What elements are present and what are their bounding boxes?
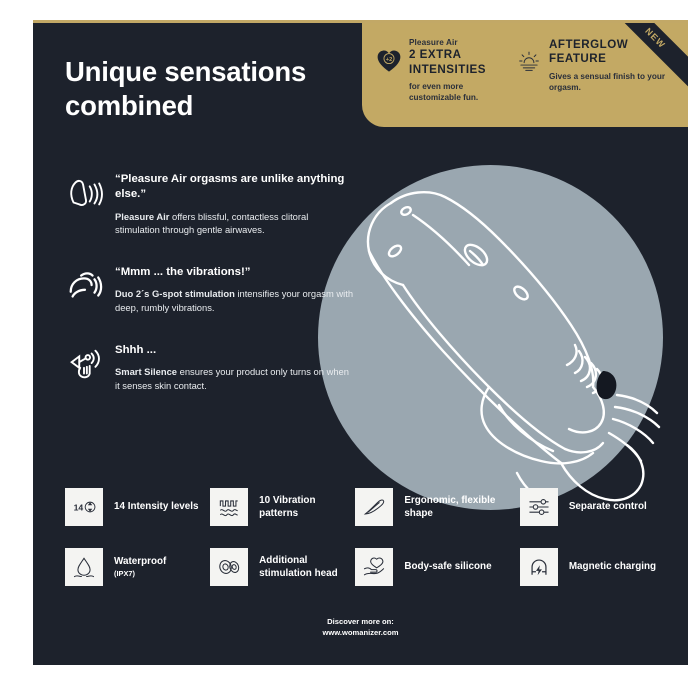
vibration-motion-icon	[65, 267, 103, 305]
additional-head-icon	[216, 554, 242, 580]
spec-label-text: Magnetic charging	[569, 561, 656, 572]
footer-line-1: Discover more on:	[33, 616, 688, 627]
spec-item-magnetic-charging: Magnetic charging	[520, 548, 665, 586]
spec-label: Waterproof(IPX7)	[114, 555, 166, 579]
spec-label-text: Additional stimulation head	[259, 555, 337, 579]
feature-description: Pleasure Air offers blissful, contactles…	[115, 210, 355, 237]
feature-item-smart-silence: Shhh ... Smart Silence ensures your prod…	[65, 341, 355, 393]
spec-label: Ergonomic, flexible shape	[404, 494, 520, 520]
svg-text:+2: +2	[386, 57, 392, 63]
spec-label-text: 10 Vibration patterns	[259, 495, 315, 519]
ergonomic-shape-icon	[361, 494, 387, 520]
feature-quote: “Pleasure Air orgasms are unlike anythin…	[115, 172, 355, 203]
specification-grid: 14 14 Intensity levels	[65, 488, 665, 608]
magnetic-charging-icon	[526, 554, 552, 580]
spec-label: Separate control	[569, 500, 647, 513]
vibration-patterns-icon	[216, 494, 242, 520]
spec-icon-box	[210, 548, 248, 586]
svg-text:14: 14	[74, 502, 84, 512]
page-title: Unique sensations combined	[65, 55, 365, 122]
spec-item-waterproof: Waterproof(IPX7)	[65, 548, 210, 586]
promo-title: 2 EXTRA INTENSITIES	[409, 48, 516, 77]
promo-subtitle: Gives a sensual finish to your orgasm.	[549, 72, 676, 94]
spec-label: Body-safe silicone	[404, 560, 491, 573]
spec-label: Magnetic charging	[569, 560, 656, 573]
feature-desc-bold: Smart Silence	[115, 366, 177, 377]
spec-label-text: Body-safe silicone	[404, 561, 491, 572]
smart-silence-touch-icon	[65, 345, 103, 383]
feature-quote: Shhh ...	[115, 343, 355, 358]
spec-item-intensity-levels: 14 14 Intensity levels	[65, 488, 210, 526]
spec-item-vibration-patterns: 10 Vibration patterns	[210, 488, 355, 526]
body-safe-silicone-icon	[361, 554, 387, 580]
pleasure-air-waves-icon	[65, 174, 103, 212]
feature-quote: “Mmm ... the vibrations!”	[115, 265, 355, 280]
spec-label-text: 14 Intensity levels	[114, 501, 199, 512]
promo-banner-item-intensities: +2 Pleasure Air 2 EXTRA INTENSITIES for …	[376, 38, 516, 127]
waterproof-droplet-icon	[71, 554, 97, 580]
spec-label-text: Separate control	[569, 501, 647, 512]
spec-icon-box	[520, 488, 558, 526]
promo-subtitle: for even more customizable fun.	[409, 82, 516, 104]
footer: Discover more on: www.womanizer.com	[33, 616, 688, 639]
spec-label: 14 Intensity levels	[114, 500, 199, 513]
spec-icon-box	[355, 488, 393, 526]
spec-item-additional-head: Additional stimulation head	[210, 548, 355, 586]
spec-icon-box	[65, 548, 103, 586]
feature-item-vibrations: “Mmm ... the vibrations!” Duo 2´s G-spot…	[65, 263, 355, 315]
spec-item-separate-control: Separate control	[520, 488, 665, 526]
intensity-levels-icon: 14	[71, 494, 97, 520]
footer-url[interactable]: www.womanizer.com	[33, 627, 688, 638]
spec-icon-box: 14	[65, 488, 103, 526]
spec-item-ergonomic-shape: Ergonomic, flexible shape	[355, 488, 520, 526]
spec-icon-box	[210, 488, 248, 526]
feature-description: Smart Silence ensures your product only …	[115, 365, 355, 392]
spec-label-text: Waterproof	[114, 556, 166, 567]
heart-plus-two-icon: +2	[376, 48, 402, 74]
specification-row: 14 14 Intensity levels	[65, 488, 665, 526]
feature-item-pleasure-air: “Pleasure Air orgasms are unlike anythin…	[65, 170, 355, 237]
product-packaging-panel: +2 Pleasure Air 2 EXTRA INTENSITIES for …	[33, 20, 688, 665]
gold-top-edge	[33, 20, 688, 23]
specification-row: Waterproof(IPX7) Additional stimulation …	[65, 548, 665, 586]
feature-list: “Pleasure Air orgasms are unlike anythin…	[65, 170, 355, 418]
spec-label: 10 Vibration patterns	[259, 494, 355, 520]
spec-label: Additional stimulation head	[259, 554, 355, 580]
spec-icon-box	[520, 548, 558, 586]
spec-label-sub: (IPX7)	[114, 569, 166, 579]
promo-eyebrow: Pleasure Air	[409, 38, 516, 47]
feature-desc-bold: Duo 2´s G-spot stimulation	[115, 288, 235, 299]
spec-icon-box	[355, 548, 393, 586]
feature-description: Duo 2´s G-spot stimulation intensifies y…	[115, 287, 355, 314]
feature-desc-bold: Pleasure Air	[115, 211, 169, 222]
sunrise-afterglow-icon	[516, 48, 542, 74]
spec-label-text: Ergonomic, flexible shape	[404, 495, 495, 519]
separate-control-icon	[526, 494, 552, 520]
spec-item-body-safe-silicone: Body-safe silicone	[355, 548, 520, 586]
